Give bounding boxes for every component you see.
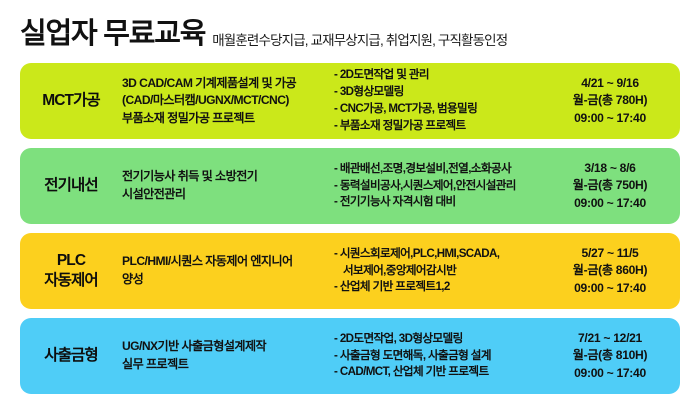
course-schedule: 4/21 ~ 9/16월-금(총 780H)09:00 ~ 17:40 (556, 75, 668, 128)
course-title-line: (CAD/마스터캠/UGNX/MCT/CNC) (122, 92, 328, 110)
page-title: 실업자 무료교육 (20, 20, 205, 58)
course-detail-line: - 부품소재 정밀가공 프로젝트 (334, 118, 556, 135)
course-detail-line: - CNC가공, MCT가공, 범용밀링 (334, 101, 556, 118)
course-detail-line: - 동력설비공사,시퀀스제어,안전시설관리 (334, 178, 556, 195)
course-title-line: UG/NX기반 사출금형설계제작 (122, 338, 328, 356)
course-time: 09:00 ~ 17:40 (556, 110, 664, 128)
course-title-line: 3D CAD/CAM 기계제품설계 및 가공 (122, 75, 328, 93)
course-row[interactable]: PLC 자동제어PLC/HMI/시퀀스 자동제어 엔지니어양성- 시퀀스회로제어… (20, 233, 680, 309)
course-detail-line: - 시퀀스회로제어,PLC,HMI,SCADA, (334, 246, 556, 263)
course-detail-line: - 3D형상모델링 (334, 84, 556, 101)
course-detail-list: - 2D도면작업, 3D형상모델링- 사출금형 도면해독, 사출금형 설계- C… (328, 331, 556, 381)
course-time: 09:00 ~ 17:40 (556, 365, 664, 383)
course-detail-line: - 산업체 기반 프로젝트1,2 (334, 279, 556, 296)
course-schedule: 3/18 ~ 8/6월-금(총 750H)09:00 ~ 17:40 (556, 160, 668, 213)
course-days-hours: 월-금(총 750H) (556, 177, 664, 195)
training-course-poster: 실업자 무료교육 매월훈련수당지급, 교재무상지급, 취업지원, 구직활동인정 … (0, 0, 700, 420)
course-name: MCT가공 (20, 91, 116, 111)
course-row[interactable]: MCT가공3D CAD/CAM 기계제품설계 및 가공(CAD/마스터캠/UGN… (20, 63, 680, 139)
course-period: 4/21 ~ 9/16 (556, 75, 664, 93)
course-row[interactable]: 사출금형UG/NX기반 사출금형설계제작실무 프로젝트- 2D도면작업, 3D형… (20, 318, 680, 394)
course-days-hours: 월-금(총 780H) (556, 92, 664, 110)
course-title-line: 양성 (122, 271, 328, 289)
course-title-line: PLC/HMI/시퀀스 자동제어 엔지니어 (122, 253, 328, 271)
course-days-hours: 월-금(총 860H) (556, 262, 664, 280)
course-detail-list: - 2D도면작업 및 관리- 3D형상모델링- CNC가공, MCT가공, 범용… (328, 67, 556, 134)
course-schedule: 7/21 ~ 12/21월-금(총 810H)09:00 ~ 17:40 (556, 330, 668, 383)
course-name: 전기내선 (20, 176, 116, 196)
course-detail-line: - 2D도면작업 및 관리 (334, 67, 556, 84)
poster-header: 실업자 무료교육 매월훈련수당지급, 교재무상지급, 취업지원, 구직활동인정 (0, 0, 700, 58)
course-title: PLC/HMI/시퀀스 자동제어 엔지니어양성 (116, 253, 328, 288)
course-title-line: 전기기능사 취득 및 소방전기 (122, 168, 328, 186)
course-detail-line: - 배관배선,조명,경보설비,전열,소화공사 (334, 161, 556, 178)
course-name: PLC 자동제어 (20, 251, 116, 291)
course-detail-line: - CAD/MCT, 산업체 기반 프로젝트 (334, 364, 556, 381)
course-title: 3D CAD/CAM 기계제품설계 및 가공(CAD/마스터캠/UGNX/MCT… (116, 75, 328, 128)
course-title: 전기기능사 취득 및 소방전기시설안전관리 (116, 168, 328, 203)
course-period: 7/21 ~ 12/21 (556, 330, 664, 348)
course-time: 09:00 ~ 17:40 (556, 280, 664, 298)
course-title: UG/NX기반 사출금형설계제작실무 프로젝트 (116, 338, 328, 373)
course-days-hours: 월-금(총 810H) (556, 347, 664, 365)
course-detail-list: - 배관배선,조명,경보설비,전열,소화공사- 동력설비공사,시퀀스제어,안전시… (328, 161, 556, 211)
course-period: 5/27 ~ 11/5 (556, 245, 664, 263)
course-schedule: 5/27 ~ 11/5월-금(총 860H)09:00 ~ 17:40 (556, 245, 668, 298)
course-detail-line: - 사출금형 도면해독, 사출금형 설계 (334, 348, 556, 365)
course-detail-line: 서보제어,중앙제어감시반 (334, 263, 556, 280)
course-period: 3/18 ~ 8/6 (556, 160, 664, 178)
course-name: 사출금형 (20, 346, 116, 366)
course-title-line: 실무 프로젝트 (122, 356, 328, 374)
page-subtitle: 매월훈련수당지급, 교재무상지급, 취업지원, 구직활동인정 (205, 34, 507, 59)
course-list: MCT가공3D CAD/CAM 기계제품설계 및 가공(CAD/마스터캠/UGN… (20, 63, 680, 397)
course-detail-line: - 전기기능사 자격시험 대비 (334, 194, 556, 211)
course-time: 09:00 ~ 17:40 (556, 195, 664, 213)
course-title-line: 시설안전관리 (122, 186, 328, 204)
course-detail-line: - 2D도면작업, 3D형상모델링 (334, 331, 556, 348)
course-title-line: 부품소재 정밀가공 프로젝트 (122, 110, 328, 128)
course-detail-list: - 시퀀스회로제어,PLC,HMI,SCADA,서보제어,중앙제어감시반- 산업… (328, 246, 556, 296)
course-row[interactable]: 전기내선전기기능사 취득 및 소방전기시설안전관리- 배관배선,조명,경보설비,… (20, 148, 680, 224)
